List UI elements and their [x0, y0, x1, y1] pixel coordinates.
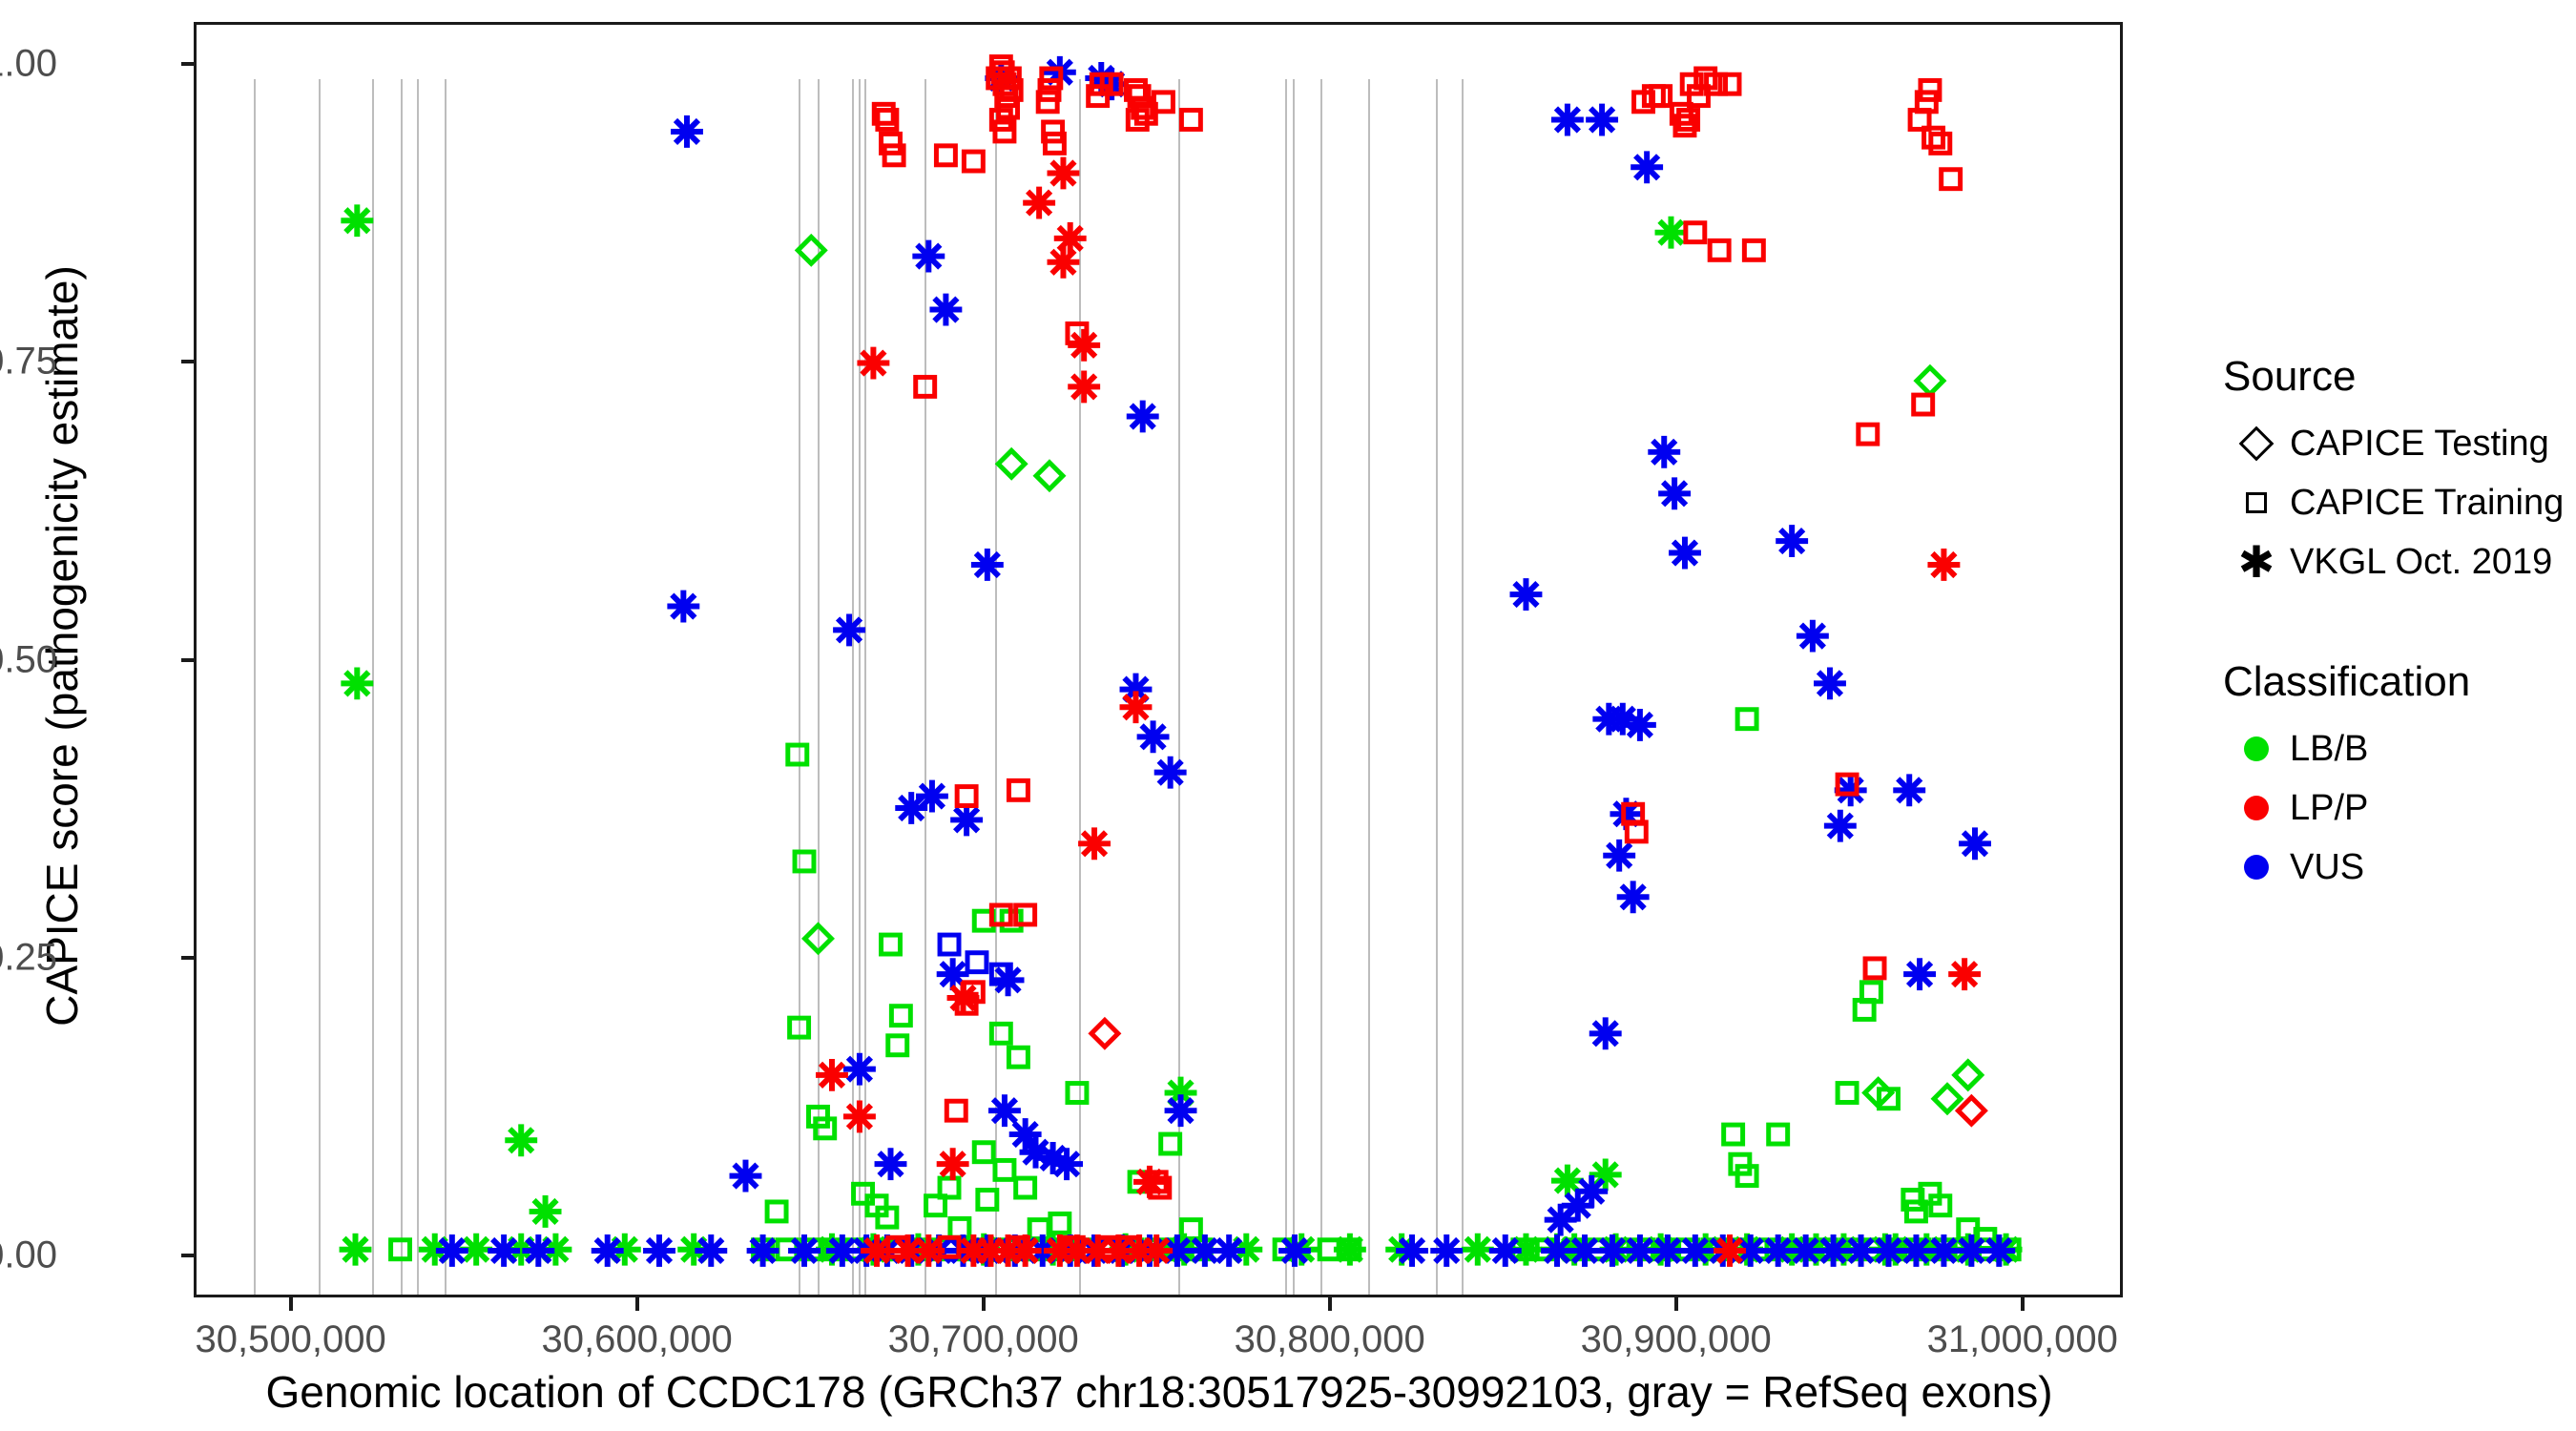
data-point-asterisk	[1631, 151, 1663, 183]
data-point-asterisk	[857, 347, 889, 380]
data-point-asterisk	[1714, 1234, 1746, 1267]
dot-icon	[2244, 855, 2269, 880]
data-point-diamond	[1958, 1097, 1984, 1124]
data-point-asterisk	[937, 1148, 969, 1180]
legend-item-lb-b[interactable]: LB/B	[2223, 719, 2576, 778]
x-tick-mark	[982, 1297, 986, 1311]
data-point-square	[391, 1240, 410, 1259]
data-point-asterisk	[1430, 1234, 1463, 1267]
data-point-asterisk	[1278, 1234, 1311, 1267]
x-tick-mark	[2021, 1297, 2025, 1311]
data-point-asterisk	[488, 1234, 520, 1267]
data-point-asterisk	[929, 294, 962, 326]
x-tick-label: 31,000,000	[1927, 1318, 2118, 1361]
data-point-asterisk	[788, 1234, 821, 1267]
y-tick-label: 0.25	[0, 936, 57, 979]
series-LB-B-CAPICE-Training	[391, 710, 2020, 1259]
data-point-asterisk	[1489, 1234, 1522, 1267]
data-point-asterisk	[912, 1234, 945, 1267]
data-point-asterisk	[1845, 1234, 1878, 1267]
data-point-square	[1008, 1047, 1028, 1067]
data-point-square	[1737, 710, 1756, 729]
data-point-asterisk	[1790, 1234, 1822, 1267]
legend-key	[2223, 431, 2290, 456]
chart-root: CAPICE score (pathogenicity estimate) 0.…	[0, 0, 2576, 1431]
data-point-asterisk	[1955, 1234, 1987, 1267]
data-point-asterisk	[833, 613, 865, 646]
data-point-asterisk	[747, 1234, 779, 1267]
data-point-asterisk	[643, 1234, 675, 1267]
data-point-asterisk	[1589, 1017, 1622, 1049]
y-tick-label: 1.00	[0, 42, 57, 85]
data-point-square	[1008, 780, 1028, 799]
data-point-asterisk	[1154, 757, 1187, 789]
legend-label: LP/P	[2290, 788, 2368, 829]
data-point-square	[978, 1191, 997, 1210]
data-point-asterisk	[1568, 1234, 1601, 1267]
legend-item-capice-testing[interactable]: CAPICE Testing	[2223, 414, 2576, 473]
data-point-diamond	[1091, 1020, 1118, 1047]
data-point-asterisk	[1959, 827, 1991, 860]
data-point-square	[1942, 170, 1961, 189]
data-point-square	[790, 1018, 809, 1037]
data-point-square	[950, 1218, 969, 1237]
data-point-square	[1050, 1213, 1070, 1233]
data-point-square	[1181, 111, 1200, 130]
data-point-asterisk	[530, 1195, 562, 1228]
series-LP-P-CAPICE-Training	[874, 57, 1960, 1257]
data-point-asterisk	[1824, 810, 1857, 842]
data-point-asterisk	[1776, 525, 1808, 557]
data-point-square	[1029, 1220, 1049, 1239]
data-point-diamond	[798, 237, 824, 263]
data-point-asterisk	[1048, 157, 1080, 190]
legend-source-group: Source CAPICE TestingCAPICE Training✱VKG…	[2223, 353, 2576, 591]
data-point-square	[767, 1202, 786, 1221]
data-point-asterisk	[1818, 1234, 1850, 1267]
data-point-asterisk	[1648, 436, 1680, 468]
data-point-asterisk	[843, 1100, 876, 1132]
data-point-asterisk	[505, 1124, 537, 1156]
data-point-square	[974, 1143, 993, 1162]
data-point-asterisk	[1551, 104, 1584, 136]
legend-item-lp-p[interactable]: LP/P	[2223, 778, 2576, 838]
data-point-asterisk	[992, 964, 1025, 996]
data-point-asterisk	[843, 1053, 876, 1086]
x-axis-label: Genomic location of CCDC178 (GRCh37 chr1…	[0, 1366, 2318, 1418]
data-point-asterisk	[1054, 222, 1087, 255]
series-VUS-VKGL-Oct--2019	[436, 56, 2015, 1267]
data-point-asterisk	[1596, 1234, 1629, 1267]
data-point-asterisk	[522, 1234, 554, 1267]
data-point-asterisk	[730, 1160, 762, 1192]
data-point-square	[1769, 1125, 1788, 1144]
data-point-asterisk	[1797, 620, 1829, 653]
legend-label: VUS	[2290, 847, 2364, 888]
data-point-asterisk	[1165, 1094, 1197, 1127]
data-point-asterisk	[1545, 1204, 1577, 1236]
y-tick-mark	[181, 658, 194, 662]
legend-key: ✱	[2223, 548, 2290, 576]
data-point-asterisk	[592, 1234, 624, 1267]
data-point-asterisk	[1586, 104, 1618, 136]
x-tick-mark	[289, 1297, 293, 1311]
data-point-asterisk	[1893, 774, 1925, 806]
data-point-asterisk	[1396, 1234, 1428, 1267]
data-point-square	[1161, 1134, 1180, 1153]
data-point-asterisk	[1624, 1234, 1656, 1267]
data-point-diamond	[805, 925, 832, 952]
y-tick-label: 0.00	[0, 1234, 57, 1277]
data-point-asterisk	[1510, 578, 1543, 611]
y-tick-mark	[181, 1254, 194, 1257]
data-point-square	[1686, 223, 1705, 242]
data-point-asterisk	[695, 1234, 727, 1267]
data-point-asterisk	[667, 591, 699, 623]
y-tick-mark	[181, 62, 194, 66]
data-point-square	[1068, 1084, 1087, 1103]
data-point-asterisk	[947, 982, 980, 1014]
square-icon	[2246, 492, 2267, 513]
data-point-square	[946, 1101, 966, 1120]
data-point-asterisk	[1541, 1234, 1573, 1267]
y-tick-label: 0.75	[0, 341, 57, 384]
data-point-asterisk	[1462, 1234, 1494, 1266]
y-tick-label: 0.50	[0, 638, 57, 681]
data-point-square	[1710, 240, 1729, 259]
data-point-square	[916, 377, 935, 396]
data-point-square	[1016, 1178, 1035, 1197]
data-point-square	[788, 745, 807, 764]
data-point-asterisk	[1762, 1234, 1795, 1267]
data-point-asterisk	[1133, 1166, 1166, 1198]
data-point-asterisk	[1927, 549, 1960, 581]
data-point-asterisk	[1078, 827, 1111, 860]
data-point-asterisk	[1592, 703, 1625, 736]
data-point-diamond	[998, 450, 1025, 477]
data-point-asterisk	[912, 240, 945, 273]
legend-label: LB/B	[2290, 729, 2368, 770]
data-point-asterisk	[1009, 1234, 1042, 1267]
data-point-asterisk	[1679, 1234, 1712, 1267]
data-point-square	[1914, 395, 1933, 414]
data-point-asterisk	[1140, 1234, 1173, 1267]
data-point-square	[1838, 1084, 1857, 1103]
x-tick-mark	[635, 1297, 639, 1311]
x-tick-label: 30,600,000	[542, 1318, 733, 1361]
legend-item-vkgl-oct-2019[interactable]: ✱VKGL Oct. 2019	[2223, 532, 2576, 591]
data-point-asterisk	[1655, 217, 1688, 249]
data-point-asterisk	[1669, 537, 1701, 570]
data-point-asterisk	[1120, 691, 1153, 723]
data-point-asterisk	[1652, 1234, 1684, 1267]
data-point-asterisk	[916, 780, 948, 813]
data-point-square	[957, 787, 976, 806]
series-LP-P-VKGL-Oct--2019	[816, 157, 1981, 1267]
data-point-square	[967, 953, 987, 972]
data-point-square	[964, 152, 983, 171]
data-point-asterisk	[1903, 958, 1936, 990]
data-point-asterisk	[341, 204, 373, 237]
data-point-asterisk	[1814, 667, 1846, 699]
data-point-asterisk	[971, 549, 1004, 581]
data-point-diamond	[1934, 1086, 1961, 1112]
data-point-asterisk	[1137, 720, 1170, 753]
data-point-square	[882, 935, 901, 954]
data-point-asterisk	[1023, 187, 1055, 219]
y-tick-mark	[181, 360, 194, 363]
data-point-square	[1865, 959, 1884, 978]
data-point-asterisk	[1213, 1234, 1245, 1267]
data-point-square	[1931, 134, 1950, 153]
data-point-asterisk	[1127, 401, 1159, 433]
data-point-asterisk	[1068, 370, 1100, 403]
legend-classification-title: Classification	[2223, 658, 2576, 706]
data-point-asterisk	[1048, 246, 1080, 279]
dot-icon	[2244, 796, 2269, 820]
plot-panel	[194, 22, 2123, 1297]
data-point-asterisk	[341, 667, 373, 699]
dot-icon	[2244, 736, 2269, 761]
data-point-asterisk	[861, 1234, 893, 1267]
data-point-square	[1859, 425, 1878, 444]
legend-classification-group: Classification LB/BLP/PVUS	[2223, 658, 2576, 897]
data-point-square	[936, 146, 955, 165]
y-tick-mark	[181, 956, 194, 960]
data-point-square	[888, 1036, 907, 1055]
asterisk-icon: ✱	[2238, 548, 2275, 576]
data-point-asterisk	[1901, 1234, 1933, 1267]
data-point-diamond	[1036, 463, 1063, 489]
data-point-asterisk	[671, 115, 703, 148]
data-point-asterisk	[1983, 1234, 2015, 1267]
legend-source-title: Source	[2223, 353, 2576, 401]
data-point-asterisk	[816, 1059, 848, 1091]
data-point-square	[891, 1006, 910, 1026]
data-point-diamond	[1917, 367, 1943, 394]
data-point-asterisk	[1873, 1234, 1905, 1267]
data-point-asterisk	[950, 804, 983, 837]
x-tick-label: 30,800,000	[1235, 1318, 1425, 1361]
x-tick-mark	[1674, 1297, 1678, 1311]
data-point-square	[1744, 240, 1763, 259]
data-point-asterisk	[1927, 1234, 1960, 1267]
data-point-asterisk	[1068, 329, 1100, 362]
legend-key	[2223, 855, 2290, 880]
data-point-square	[795, 852, 814, 871]
x-tick-mark	[1328, 1297, 1332, 1311]
legend-key	[2223, 796, 2290, 820]
data-point-asterisk	[875, 1148, 907, 1180]
data-point-diamond	[1955, 1062, 1982, 1089]
data-point-square	[991, 1024, 1010, 1043]
data-point-asterisk	[436, 1234, 468, 1267]
data-point-square	[940, 935, 959, 954]
data-point-square	[1724, 1125, 1743, 1144]
legend-key	[2223, 492, 2290, 513]
legend-item-vus[interactable]: VUS	[2223, 838, 2576, 897]
data-point-asterisk	[1050, 1148, 1083, 1180]
legend: Source CAPICE TestingCAPICE Training✱VKG…	[2223, 353, 2576, 964]
data-points-layer	[197, 25, 2120, 1295]
data-point-asterisk	[1603, 840, 1635, 872]
legend-label: CAPICE Training	[2290, 483, 2564, 524]
diamond-icon	[2239, 426, 2275, 462]
data-point-asterisk	[1617, 881, 1650, 913]
data-point-asterisk	[1948, 958, 1981, 990]
legend-item-capice-training[interactable]: CAPICE Training	[2223, 473, 2576, 532]
x-tick-label: 30,900,000	[1581, 1318, 1772, 1361]
x-tick-label: 30,700,000	[888, 1318, 1079, 1361]
data-point-asterisk	[1624, 709, 1656, 741]
data-point-asterisk	[1658, 477, 1691, 509]
series-LP-P-CAPICE-Testing	[1091, 1020, 1984, 1124]
legend-label: VKGL Oct. 2019	[2290, 542, 2552, 583]
legend-label: CAPICE Testing	[2290, 424, 2549, 465]
data-point-square	[995, 1160, 1014, 1179]
legend-key	[2223, 736, 2290, 761]
x-tick-label: 30,500,000	[196, 1318, 386, 1361]
data-point-asterisk	[340, 1234, 372, 1266]
